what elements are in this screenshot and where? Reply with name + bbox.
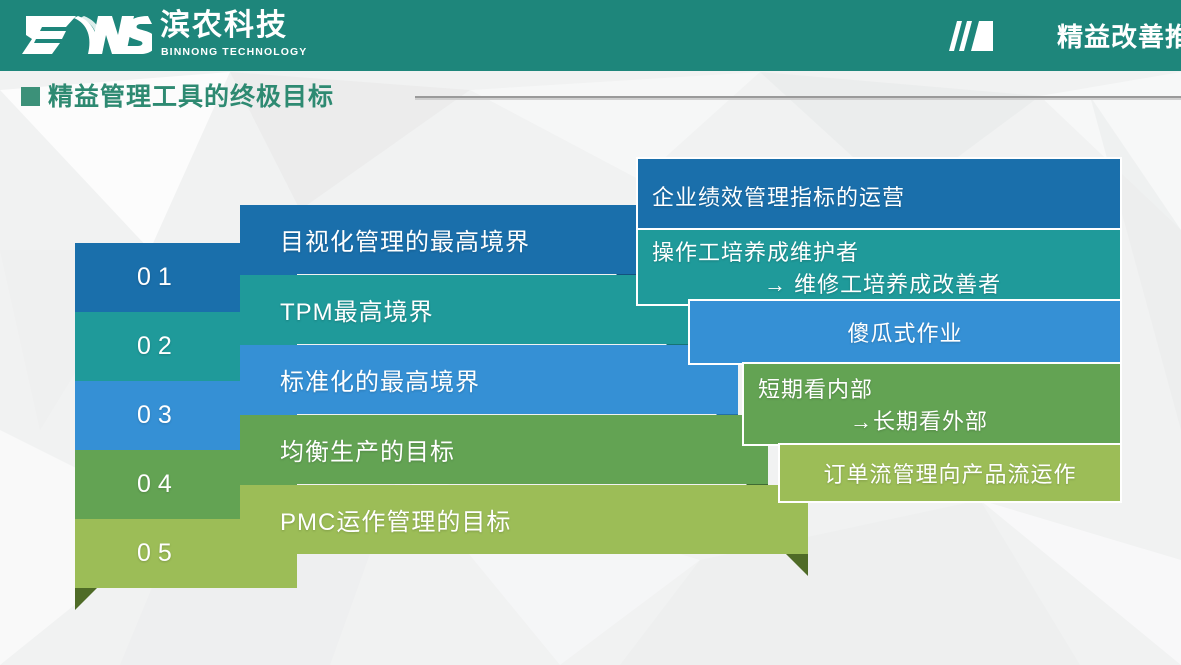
right-box-2[interactable]: 操作工培养成维护者→ 维修工培养成改善者 [636,228,1122,306]
app-header: 滨农科技 BINNONG TECHNOLOGY 精益改善推进 [0,0,1181,71]
right-box-5[interactable]: 订单流管理向产品流运作 [778,443,1122,503]
ribbon-label: 标准化的最高境界 [280,362,480,397]
number-label: 04 [137,470,179,499]
ribbon-item-5[interactable]: PMC运作管理的目标 [240,485,808,554]
ribbon-item-1[interactable]: 目视化管理的最高境界 [240,205,638,274]
right-box-line: 订单流管理向产品流运作 [823,457,1076,489]
right-box-4[interactable]: 短期看内部→长期看外部 [742,362,1122,446]
number-label: 02 [137,332,179,361]
ribbon-item-4[interactable]: 均衡生产的目标 [240,415,768,484]
brand-name-en: BINNONG TECHNOLOGY [161,46,307,58]
right-box-line: → 维修工培养成改善者 [652,267,1120,299]
slash-blocks-icon [947,19,995,53]
header-title: 精益改善推进 [1057,17,1181,54]
ribbon-label: PMC运作管理的目标 [280,502,511,537]
number-column-fold [75,588,97,610]
header-right: 精益改善推进 [947,0,1181,71]
right-box-line: 短期看内部 [758,372,1120,404]
ribbon-fold-shadow [786,554,808,576]
number-label: 01 [137,263,179,292]
ribbon-label: 均衡生产的目标 [280,432,455,467]
bns-logo-icon [22,8,152,60]
right-box-line: 傻瓜式作业 [847,316,962,348]
ribbon-label: TPM最高境界 [280,292,434,327]
title-bullet-icon [21,87,40,106]
number-label: 05 [137,539,179,568]
ribbon-item-2[interactable]: TPM最高境界 [240,275,688,344]
number-label: 03 [137,401,179,430]
slide-title-row: 精益管理工具的终极目标 [0,78,1181,118]
page-title: 精益管理工具的终极目标 [48,78,334,116]
ribbon-label: 目视化管理的最高境界 [280,222,530,257]
right-box-3[interactable]: 傻瓜式作业 [688,299,1122,365]
brand-logo[interactable]: 滨农科技 BINNONG TECHNOLOGY [22,8,307,60]
ribbon-item-3[interactable]: 标准化的最高境界 [240,345,738,414]
right-box-1[interactable]: 企业绩效管理指标的运营 [636,157,1122,235]
title-divider [415,96,1181,100]
brand-name-cn: 滨农科技 [160,11,307,41]
right-box-line: 企业绩效管理指标的运营 [652,180,1120,212]
right-box-line: 操作工培养成维护者 [652,235,1120,267]
right-box-line: →长期看外部 [758,404,1120,436]
